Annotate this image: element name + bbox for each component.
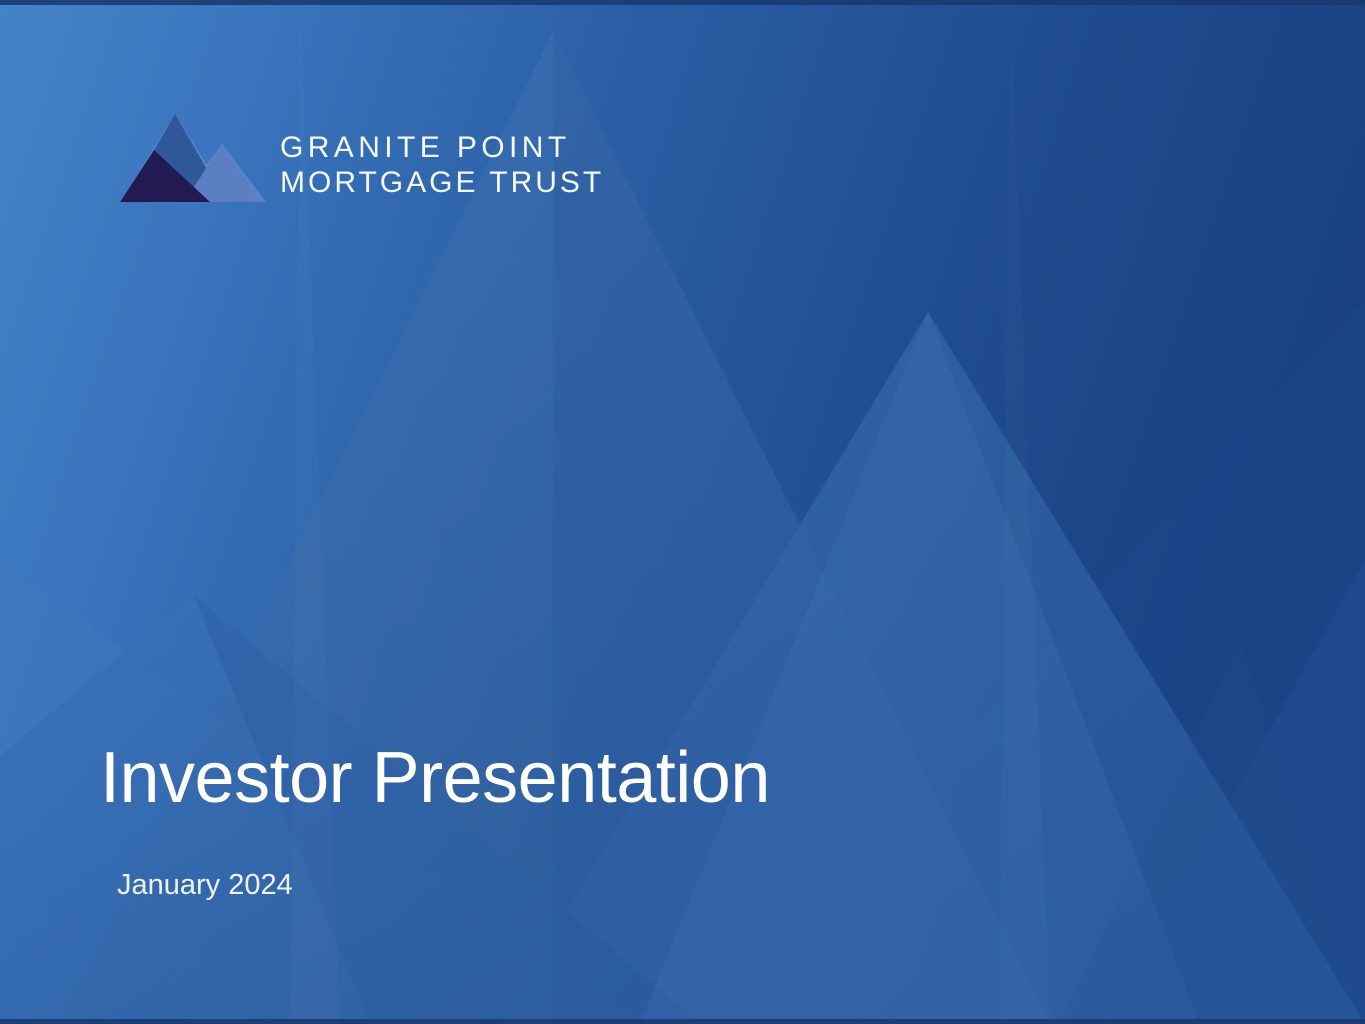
mountain-triangles-icon <box>118 106 268 210</box>
logo-wordmark: GRANITE POINT MORTGAGE TRUST <box>280 130 604 201</box>
wordmark-line-mortgage-trust: MORTGAGE TRUST <box>280 165 604 200</box>
company-logo: GRANITE POINT MORTGAGE TRUST <box>118 106 604 210</box>
wordmark-line-granite-point: GRANITE POINT <box>280 130 604 165</box>
title-slide: GRANITE POINT MORTGAGE TRUST Investor Pr… <box>0 0 1365 1024</box>
title-block: Investor Presentation January 2024 <box>100 742 770 900</box>
presentation-date: January 2024 <box>100 814 770 900</box>
page-title: Investor Presentation <box>100 742 770 814</box>
